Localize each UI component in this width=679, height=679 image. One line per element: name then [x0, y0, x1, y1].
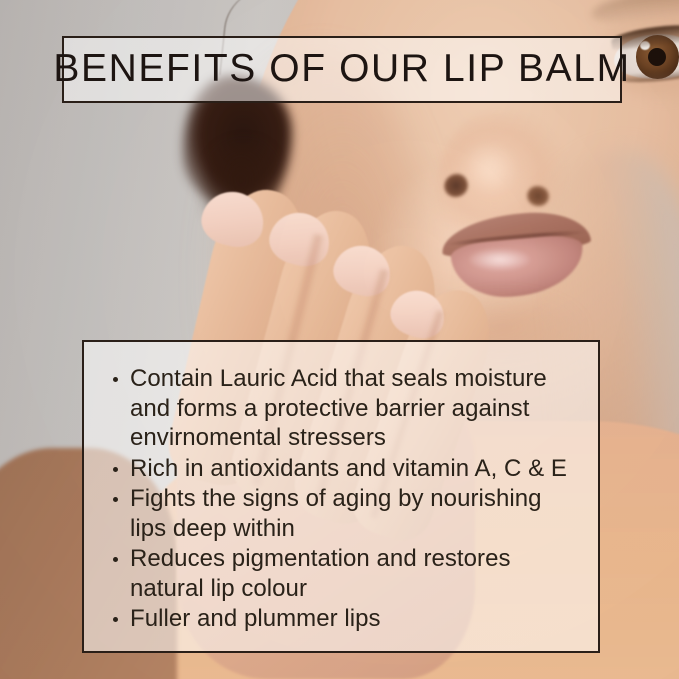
benefits-panel: Contain Lauric Acid that seals moisture …	[82, 340, 600, 653]
list-item: Rich in antioxidants and vitamin A, C & …	[104, 454, 580, 484]
list-item: Fuller and plummer lips	[104, 604, 580, 634]
benefits-list: Contain Lauric Acid that seals moisture …	[104, 364, 580, 634]
lip-balm-benefits-poster: BENEFITS OF OUR LIP BALM Contain Lauric …	[0, 0, 679, 679]
list-item: Fights the signs of aging by nourishing …	[104, 484, 580, 543]
title-banner: BENEFITS OF OUR LIP BALM	[62, 36, 622, 103]
eye-pupil	[648, 48, 666, 66]
nose-highlight	[462, 146, 516, 194]
list-item: Contain Lauric Acid that seals moisture …	[104, 364, 580, 453]
lip-gloss-highlight	[469, 249, 530, 271]
list-item: Reduces pigmentation and restores natura…	[104, 544, 580, 603]
page-title: BENEFITS OF OUR LIP BALM	[53, 49, 630, 88]
